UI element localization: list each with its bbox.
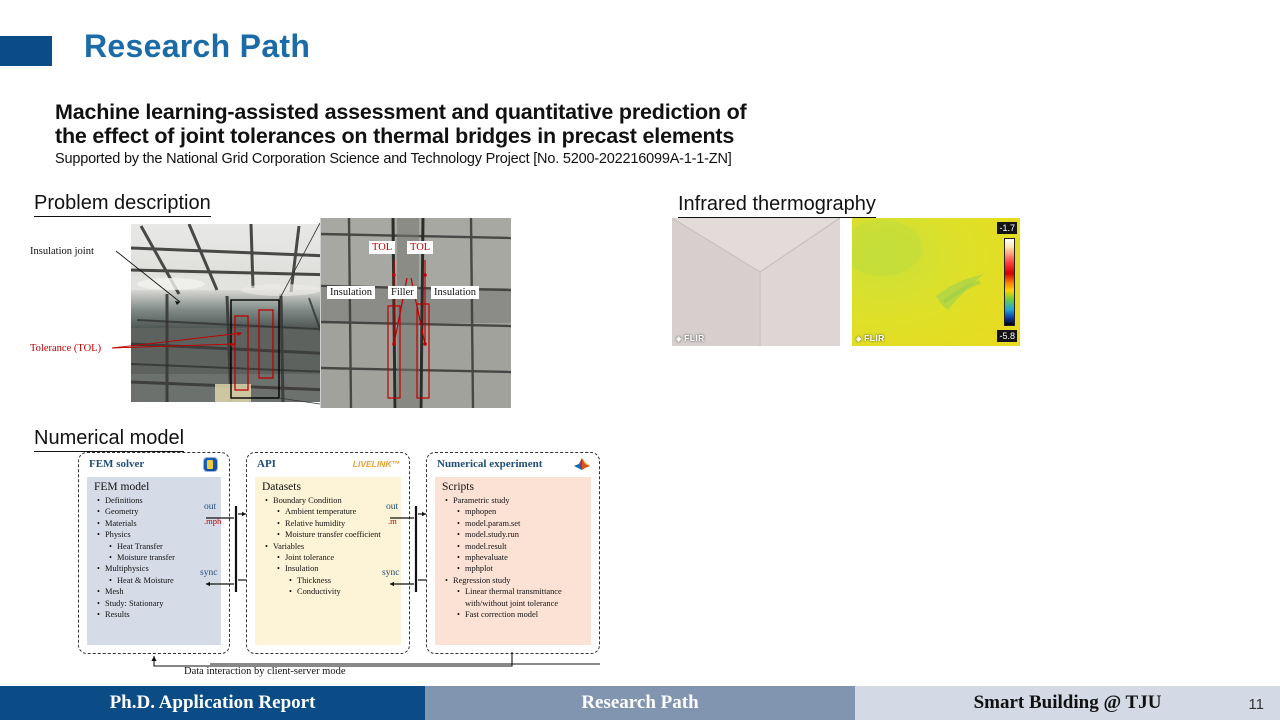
ir-photo-corner-2: FLIR [672,218,840,346]
connector-label-out-2: out [386,502,398,512]
scale-min-value: -5.8 [997,330,1017,342]
footer-center-label: Research Path [581,692,698,714]
flir-watermark: FLIR [676,333,705,343]
subtitle-line-2: the effect of joint tolerances on therma… [55,124,955,148]
subtitle-block: Machine learning-assisted assessment and… [55,100,955,167]
diagram-caption: Data interaction by client-server mode [184,666,346,677]
footer-segment-center: Research Path [425,686,855,720]
numerical-model-diagram: FEM solver FEM model Definitions Geometr… [60,452,620,677]
footer-right-label: Smart Building @ TJU [974,692,1162,714]
connector-label-file-1: .mph [204,516,221,526]
funding-note: Supported by the National Grid Corporati… [55,151,955,167]
connector-label-out-1: out [204,502,216,512]
scale-max-value: -1.7 [997,222,1017,234]
subtitle-line-1: Machine learning-assisted assessment and… [55,100,955,124]
flir-watermark: FLIR [856,333,885,343]
connector-label-sync-1: sync [200,568,217,578]
thermal-scalebar [1004,238,1015,326]
tag-insulation-right: Insulation [431,286,479,299]
footer-segment-left: Ph.D. Application Report [0,686,425,720]
tag-tol-left: TOL [369,241,395,254]
page-number: 11 [1248,696,1264,713]
connector-label-sync-2: sync [382,568,399,578]
tag-filler: Filler [388,286,417,299]
connector-label-file-2: .m [388,516,397,526]
diagram-connectors [60,452,620,677]
problem-figure: Insulation joint Tolerance (TOL) [30,218,620,408]
tag-tol-right: TOL [407,241,433,254]
header-accent-square [0,36,52,66]
page-title: Research Path [84,28,310,65]
footer-left-label: Ph.D. Application Report [110,692,316,714]
footer-bar: Ph.D. Application Report Research Path S… [0,686,1280,720]
tag-insulation-left: Insulation [327,286,375,299]
footer-segment-right: Smart Building @ TJU [855,686,1280,720]
section-heading-problem: Problem description [34,192,211,217]
section-heading-infrared: Infrared thermography [678,193,876,218]
zoom-detail-photo: TOL TOL Insulation Filler Insulation [320,218,511,408]
section-heading-numerical: Numerical model [34,427,184,452]
ir-thermal-corner-2: -1.7 -5.8 FLIR [852,218,1020,346]
